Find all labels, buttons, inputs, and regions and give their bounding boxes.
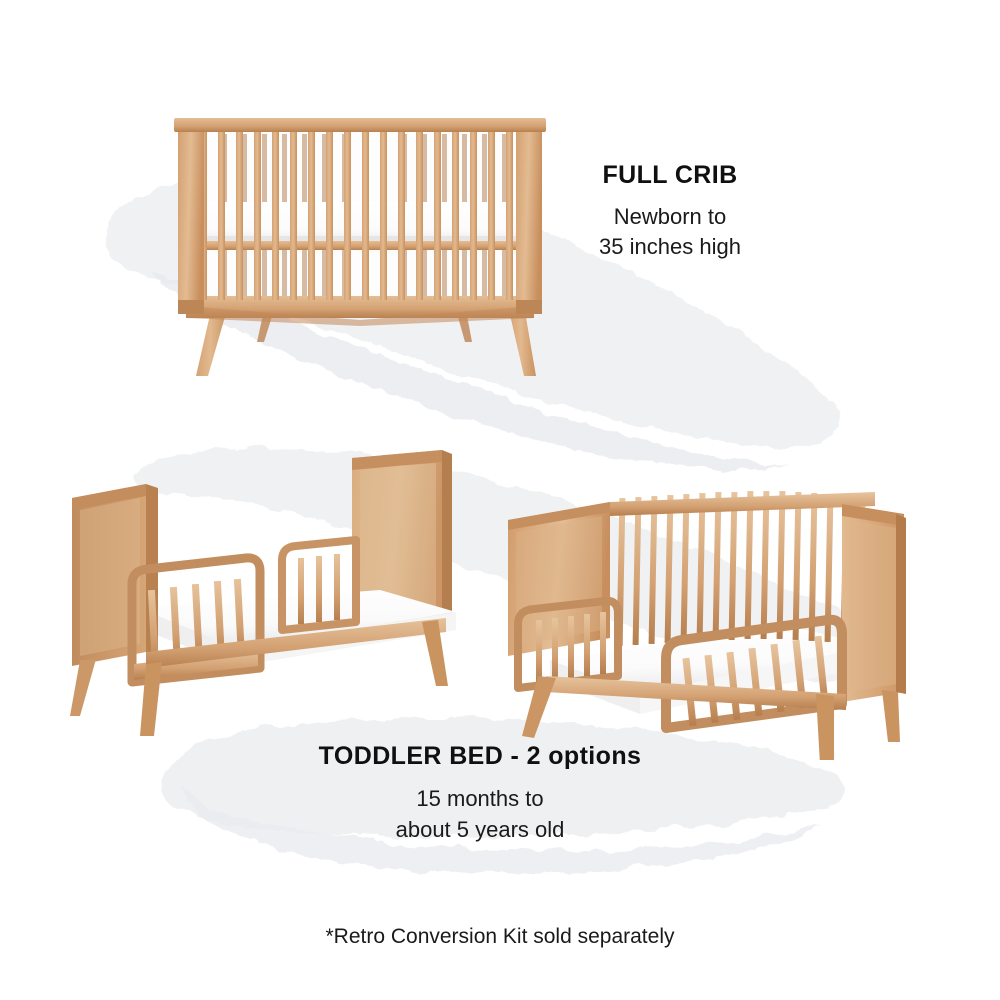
crib-top-rail [174, 118, 546, 132]
toddler-bed-title: TODDLER BED - 2 options [180, 740, 780, 772]
full-crib-detail-line-1: Newborn to [540, 202, 800, 232]
toddler-bed-detail-line-1: 15 months to [180, 783, 780, 814]
toddler-left-footboard [72, 484, 158, 666]
infographic-canvas: FULL CRIB Newborn to 35 inches high TODD… [0, 0, 1000, 1000]
full-crib-illustration [160, 110, 560, 390]
full-crib-caption: FULL CRIB Newborn to 35 inches high [540, 160, 800, 262]
toddler-bed-option-two-illustration [490, 480, 920, 760]
crib-base-apron [186, 296, 534, 326]
toddler-bed-detail-line-2: about 5 years old [180, 814, 780, 845]
toddler-right-right-panel [842, 504, 906, 702]
toddler-bed-caption: TODDLER BED - 2 options 15 months to abo… [180, 740, 780, 845]
full-crib-detail-line-2: 35 inches high [540, 232, 800, 262]
toddler-bed-option-one-illustration [50, 440, 490, 740]
full-crib-title: FULL CRIB [540, 160, 800, 190]
toddler-right-left-panel [508, 502, 610, 656]
footnote-text: *Retro Conversion Kit sold separately [0, 925, 1000, 949]
